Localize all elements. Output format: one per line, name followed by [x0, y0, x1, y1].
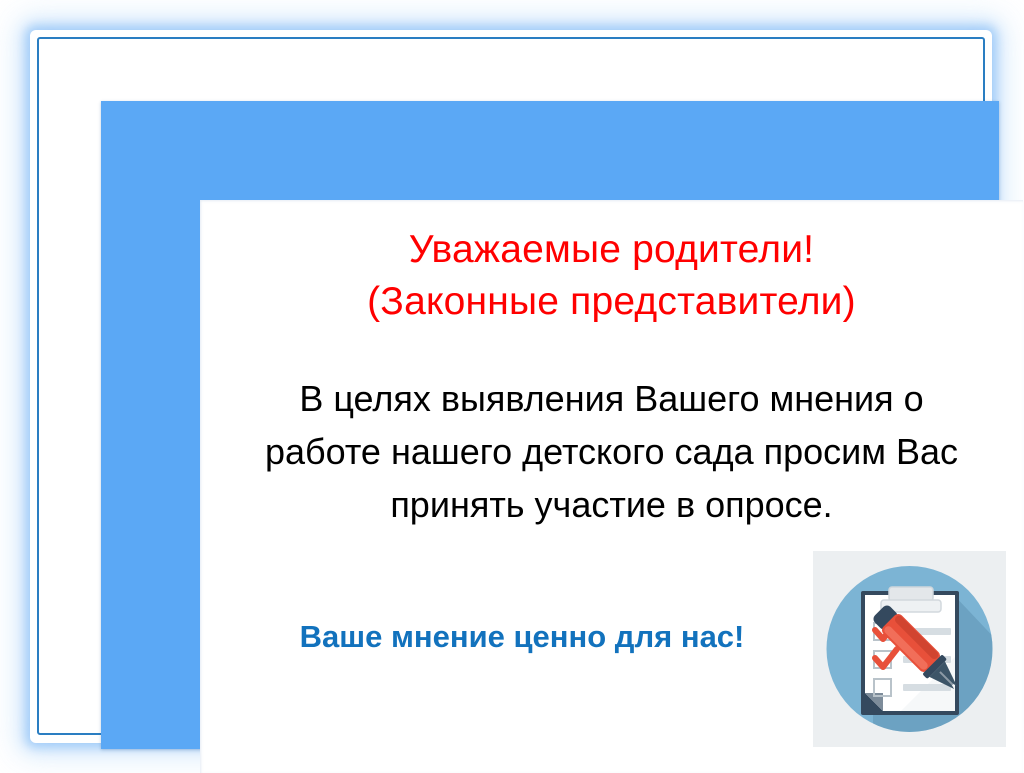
- body-line-1: В целях выявления Вашего мнения о: [200, 372, 1023, 425]
- highlight-block: Ваше мнение ценно для нас!: [222, 618, 822, 656]
- icon-panel: [813, 551, 1006, 747]
- frame-blue-band: Уважаемые родители! (Законные представит…: [101, 101, 999, 749]
- slide-canvas: Уважаемые родители! (Законные представит…: [0, 0, 1024, 768]
- title-line-2: (Законные представители): [200, 276, 1023, 328]
- body-line-2: работе нашего детского сада просим Вас: [200, 425, 1023, 478]
- highlight-text: Ваше мнение ценно для нас!: [222, 618, 822, 656]
- slide-content-area: Уважаемые родители! (Законные представит…: [200, 200, 1023, 773]
- survey-clipboard-icon: [813, 551, 1006, 747]
- body-line-3: принять участие в опросе.: [200, 478, 1023, 531]
- frame-outline: Уважаемые родители! (Законные представит…: [37, 37, 985, 735]
- title-line-1: Уважаемые родители!: [200, 224, 1023, 276]
- body-block: В целях выявления Вашего мнения о работе…: [200, 372, 1023, 531]
- text-line-3: [903, 684, 951, 691]
- clipboard-clip-top: [889, 587, 933, 601]
- title-block: Уважаемые родители! (Законные представит…: [200, 224, 1023, 328]
